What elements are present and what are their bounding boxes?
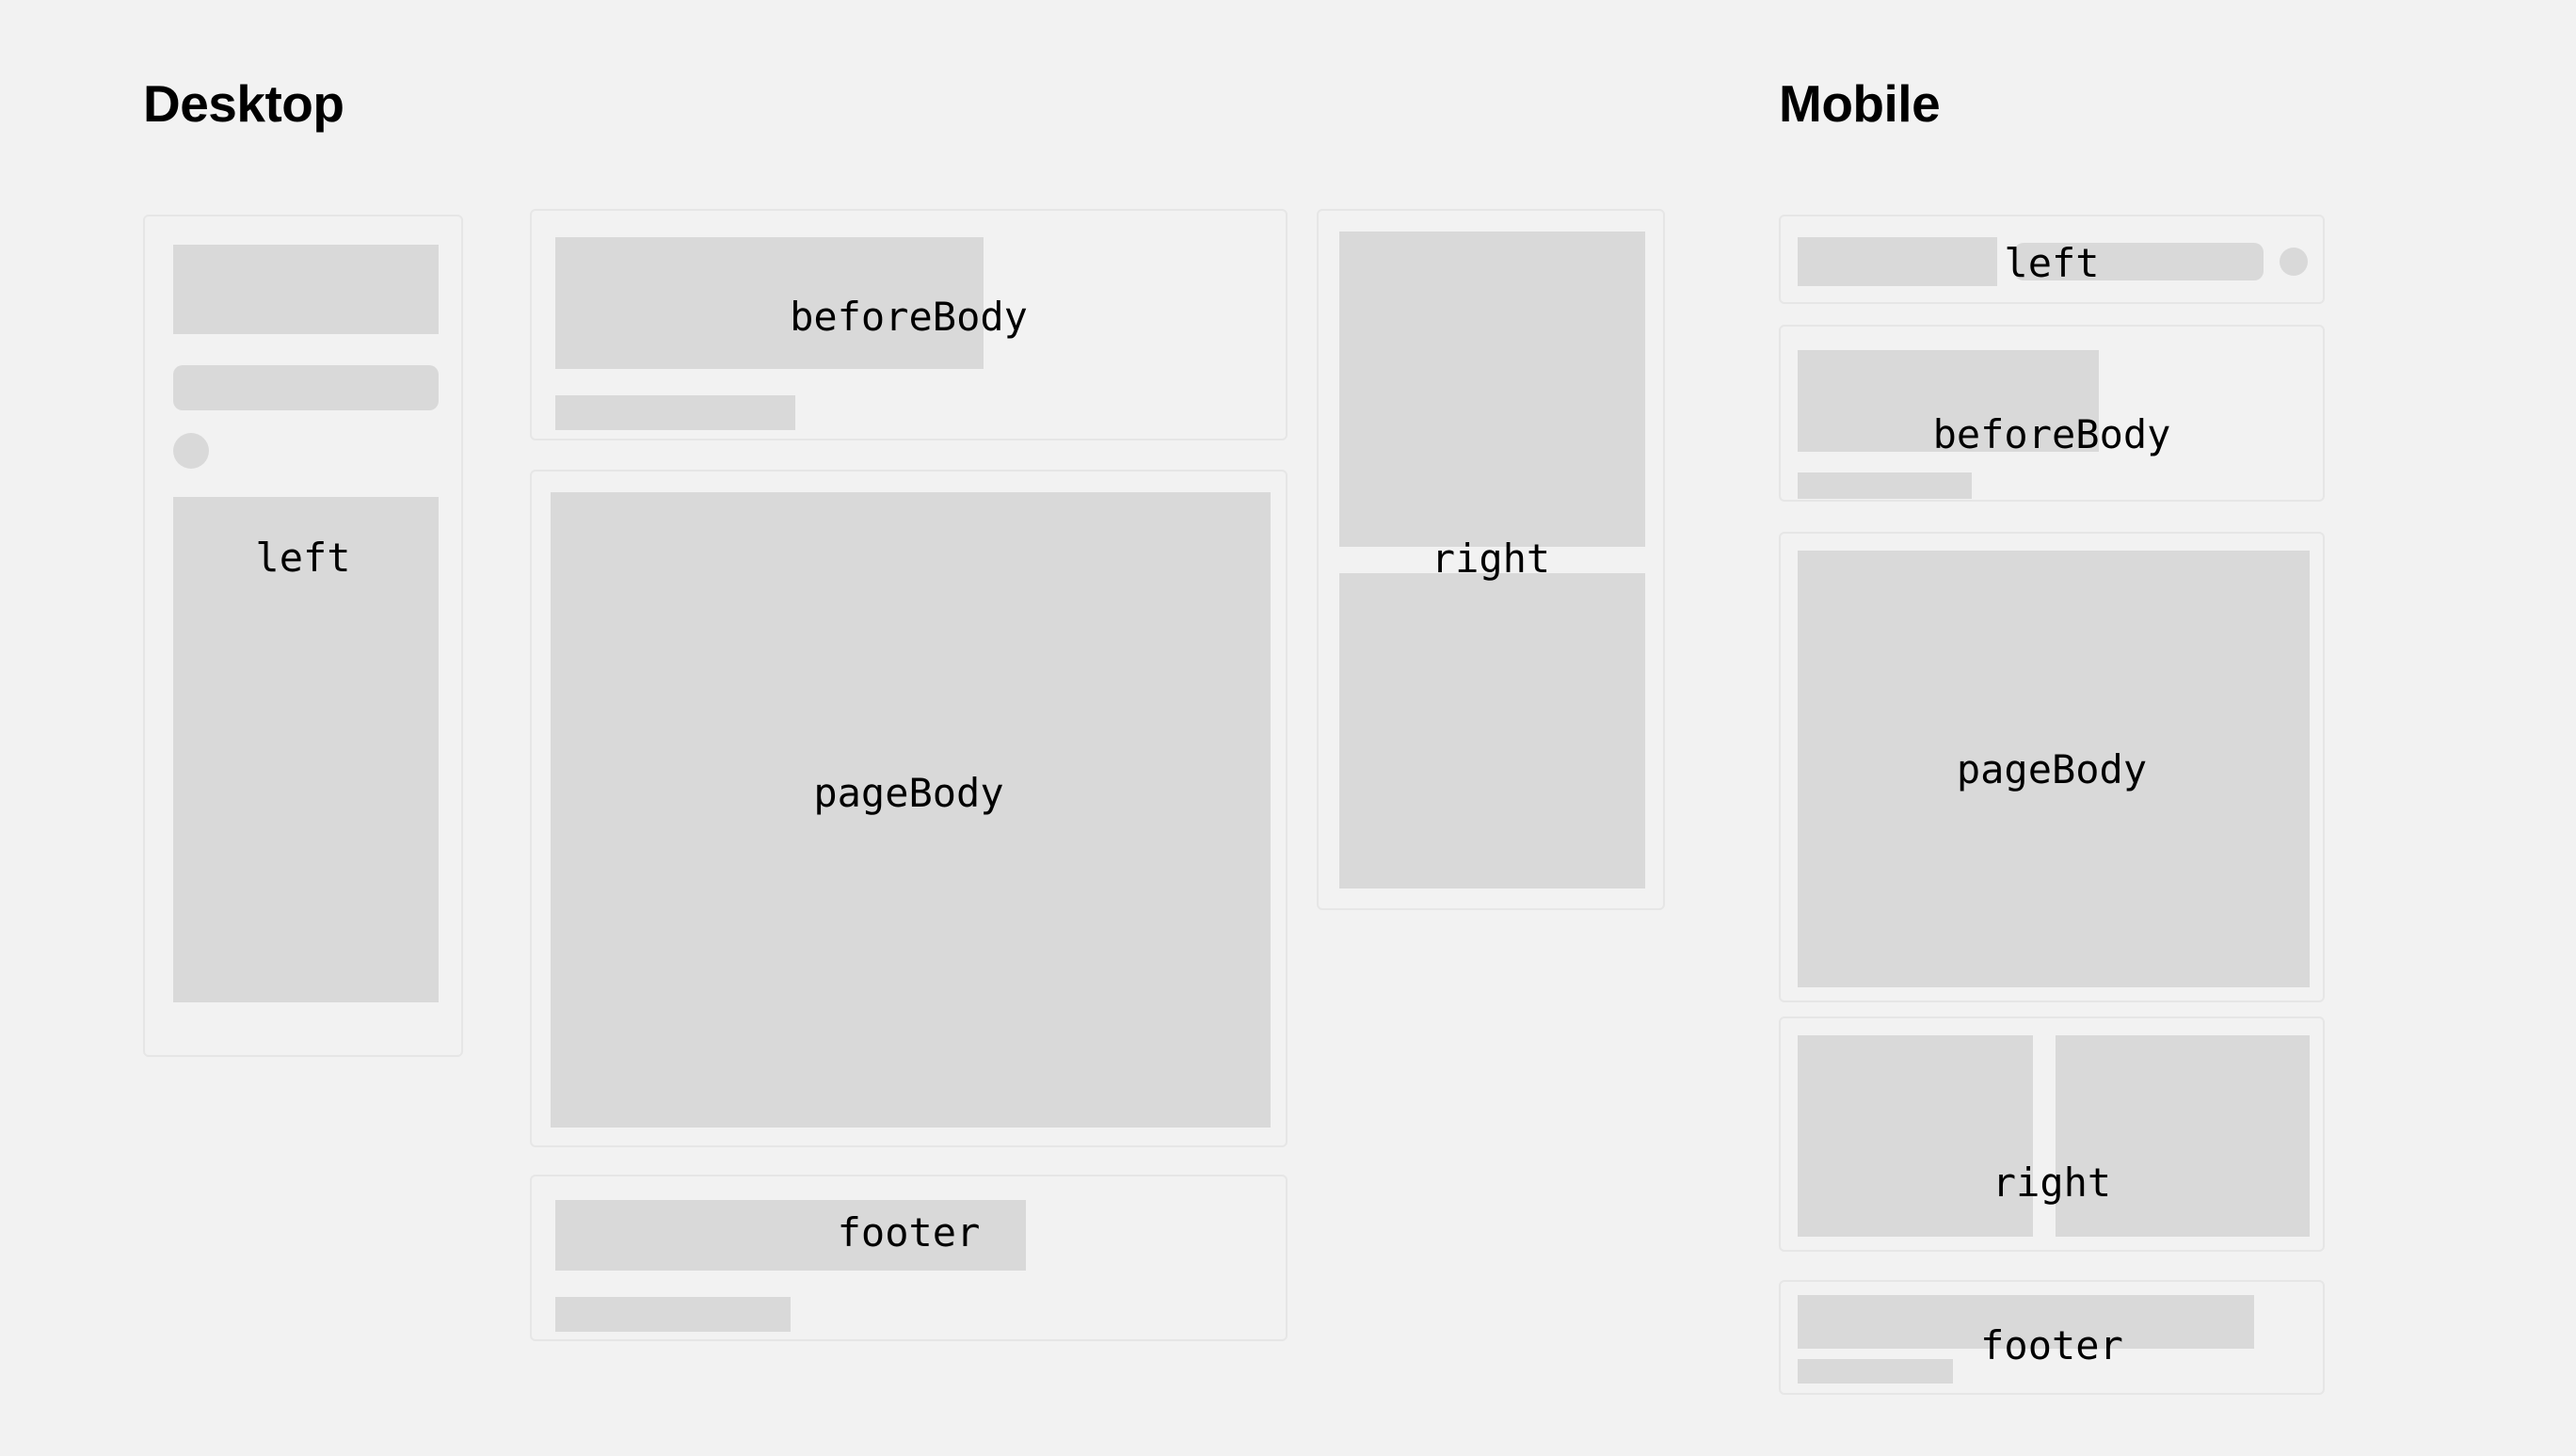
mobile-left-panel[interactable] xyxy=(1779,215,2325,304)
placeholder-block-circle xyxy=(2280,248,2308,276)
placeholder-block-large xyxy=(173,497,439,1002)
desktop-right-panel[interactable] xyxy=(1317,209,1665,910)
mobile-footer-panel[interactable] xyxy=(1779,1280,2325,1395)
placeholder-block-left-column xyxy=(1798,1035,2033,1237)
placeholder-block-rect xyxy=(173,245,439,334)
placeholder-block-large xyxy=(555,1200,1026,1271)
placeholder-block-large xyxy=(1798,350,2099,452)
placeholder-block-top xyxy=(1339,232,1645,547)
desktop-pagebody-panel[interactable] xyxy=(530,470,1288,1147)
desktop-left-panel[interactable] xyxy=(143,215,463,1057)
placeholder-block-large xyxy=(551,492,1271,1128)
desktop-beforebody-panel[interactable] xyxy=(530,209,1288,440)
placeholder-block-bar xyxy=(555,1297,791,1332)
placeholder-block-bottom xyxy=(1339,573,1645,888)
placeholder-block-bar xyxy=(2014,243,2264,280)
mobile-pagebody-panel[interactable] xyxy=(1779,532,2325,1002)
placeholder-block-large xyxy=(1798,551,2310,987)
mobile-right-panel[interactable] xyxy=(1779,1016,2325,1252)
desktop-section-heading: Desktop xyxy=(143,73,344,134)
placeholder-block-bar xyxy=(1798,1359,1953,1384)
placeholder-block-circle xyxy=(173,433,209,469)
placeholder-block-bar xyxy=(173,365,439,410)
wireframe-layout-page: { "sections": { "desktop": { "heading": … xyxy=(0,0,2576,1456)
placeholder-block-rect xyxy=(1798,237,1997,286)
mobile-section-heading: Mobile xyxy=(1779,73,1940,134)
desktop-footer-panel[interactable] xyxy=(530,1175,1288,1341)
placeholder-block-large xyxy=(1798,1295,2254,1349)
placeholder-block-large xyxy=(555,237,984,369)
placeholder-block-bar xyxy=(555,395,795,430)
placeholder-block-right-column xyxy=(2056,1035,2310,1237)
mobile-beforebody-panel[interactable] xyxy=(1779,325,2325,502)
placeholder-block-bar xyxy=(1798,472,1972,499)
